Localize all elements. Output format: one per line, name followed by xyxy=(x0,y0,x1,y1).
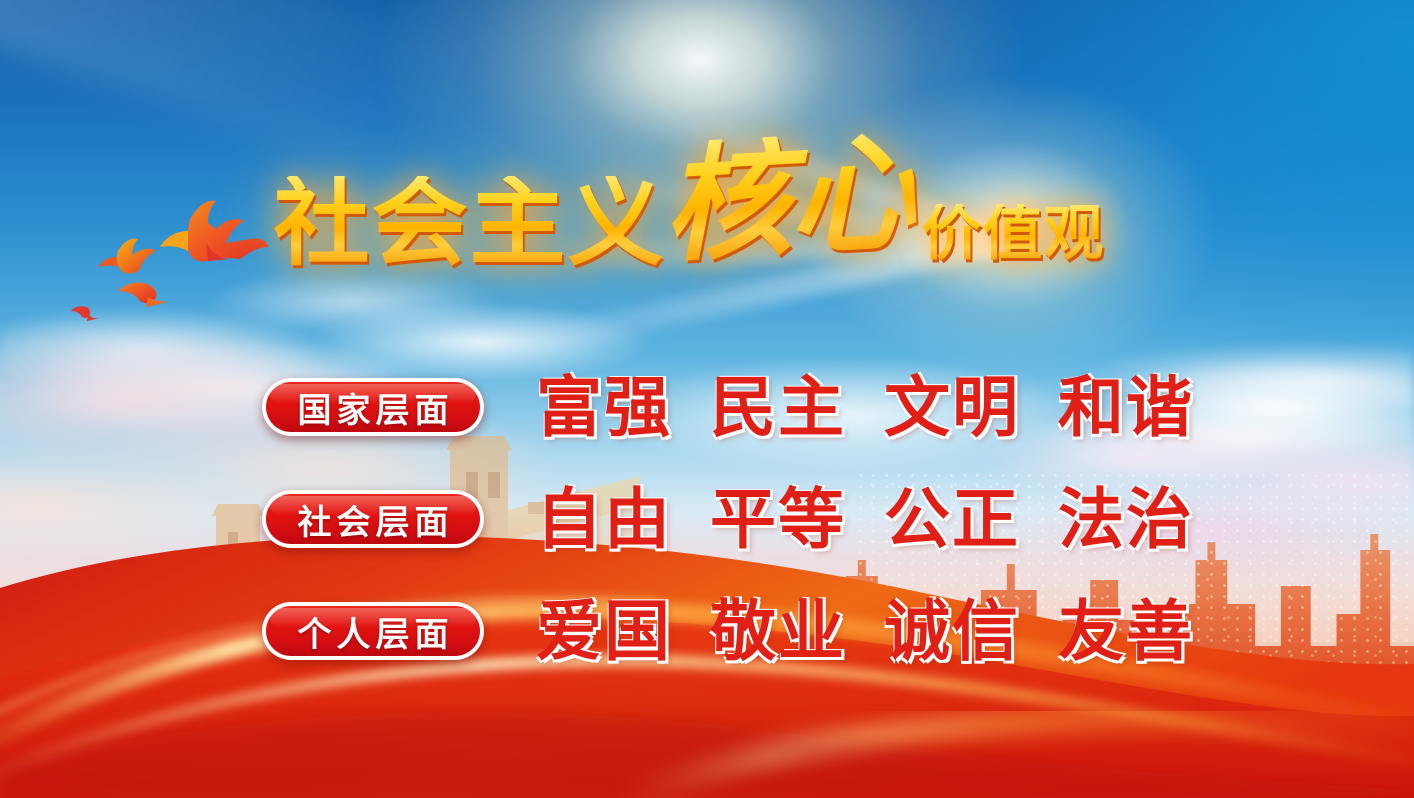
value-term: 自由 xyxy=(536,486,672,552)
value-term: 敬业 xyxy=(710,598,846,664)
poster-canvas: 社会主义 核心 价值观 国家层面 富强 民主 文明 和谐 社会层面 自由 xyxy=(0,0,1414,798)
value-term: 法治 xyxy=(1058,486,1194,552)
value-row: 国家层面 富强 民主 文明 和谐 xyxy=(262,372,1182,442)
badge-label: 个人层面 xyxy=(293,607,454,656)
level-badge-personal[interactable]: 个人层面 xyxy=(262,602,484,660)
value-term: 爱国 xyxy=(536,598,672,664)
badge-label: 社会层面 xyxy=(293,495,454,544)
value-row: 社会层面 自由 平等 公正 法治 xyxy=(262,484,1182,554)
value-term: 文明 xyxy=(884,374,1020,440)
value-terms-group: 富强 民主 文明 和谐 xyxy=(536,374,1194,440)
value-term: 民主 xyxy=(710,374,846,440)
value-row: 个人层面 爱国 敬业 诚信 友善 xyxy=(262,596,1182,666)
badge-label: 国家层面 xyxy=(293,383,454,432)
core-values-block: 国家层面 富强 民主 文明 和谐 社会层面 自由 平等 公正 法治 xyxy=(262,372,1182,666)
value-terms-group: 自由 平等 公正 法治 xyxy=(536,486,1194,552)
level-badge-social[interactable]: 社会层面 xyxy=(262,490,484,548)
value-term: 和谐 xyxy=(1058,374,1194,440)
value-terms-group: 爱国 敬业 诚信 友善 xyxy=(536,598,1194,664)
value-term: 公正 xyxy=(884,486,1020,552)
value-term: 诚信 xyxy=(884,598,1020,664)
level-badge-national[interactable]: 国家层面 xyxy=(262,378,484,436)
value-term: 友善 xyxy=(1058,598,1194,664)
value-term: 平等 xyxy=(710,486,846,552)
value-term: 富强 xyxy=(536,374,672,440)
flying-doves-icon xyxy=(40,185,270,335)
